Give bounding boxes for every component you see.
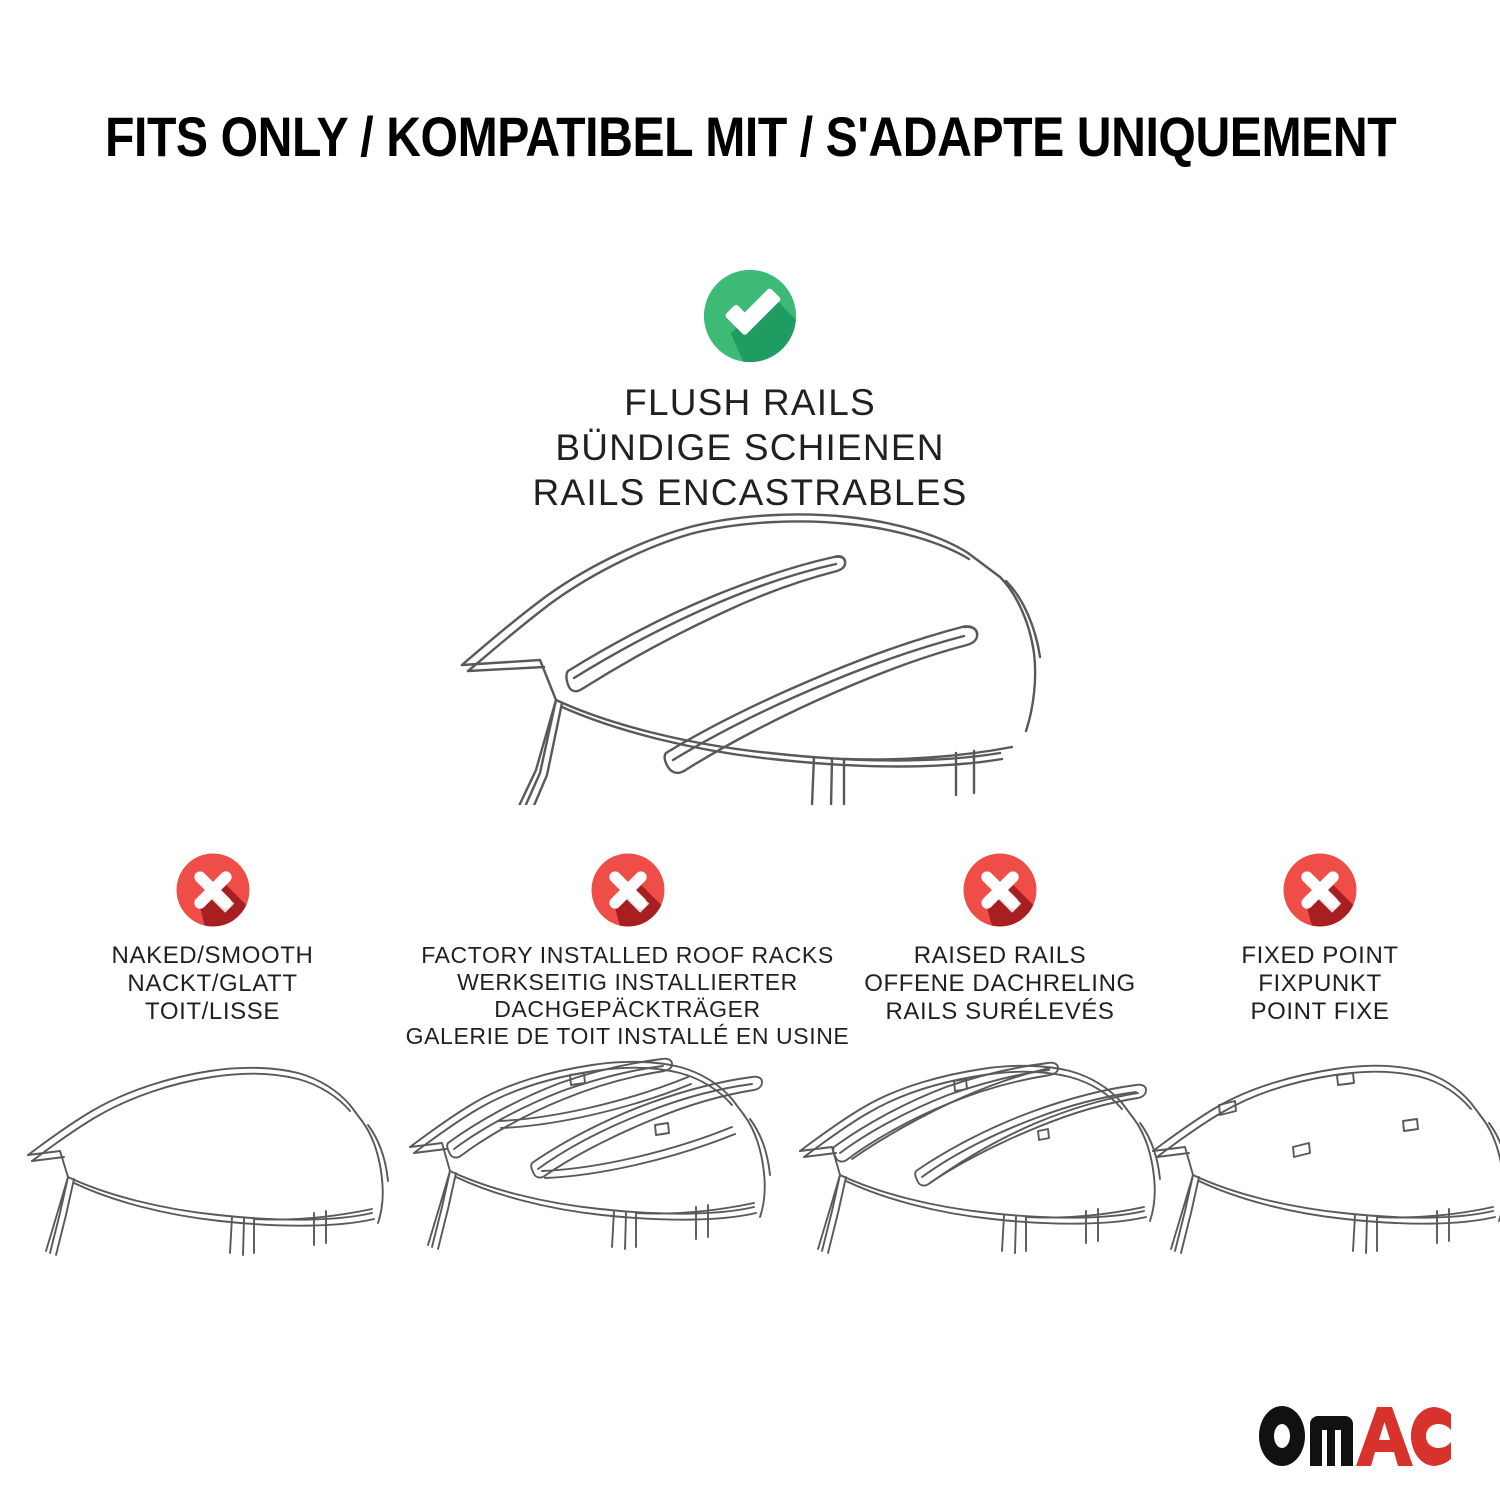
incompatible-label-fr: TOIT/LISSE: [40, 998, 385, 1026]
incompatible-label-fr: RAILS SURÉLEVÉS: [845, 998, 1155, 1026]
incompatible-item-raised-rails: RAISED RAILS OFFENE DACHRELING RAILS SUR…: [845, 852, 1155, 1026]
incompatible-item-factory-installed-roof-racks: FACTORY INSTALLED ROOF RACKS WERKSEITIG …: [400, 852, 855, 1050]
car-roof-with-flush-rails-illustration: [440, 495, 1060, 805]
car-roof-naked-smooth-illustration: [20, 1055, 420, 1305]
red-x-icon: [962, 852, 1038, 928]
incompatible-label-de: NACKT/GLATT: [40, 970, 385, 998]
incompatible-label: RAISED RAILS OFFENE DACHRELING RAILS SUR…: [845, 942, 1155, 1026]
compatible-section: FLUSH RAILS BÜNDIGE SCHIENEN RAILS ENCAS…: [0, 268, 1500, 515]
compatible-label-de: BÜNDIGE SCHIENEN: [0, 425, 1500, 470]
logo-letter-o: [1259, 1406, 1305, 1466]
incompatible-label: FACTORY INSTALLED ROOF RACKS WERKSEITIG …: [400, 942, 855, 1050]
omac-logo-mark: [1253, 1402, 1453, 1470]
fitment-infographic: FITS ONLY / KOMPATIBEL MIT / S'ADAPTE UN…: [0, 0, 1500, 1500]
roof-illustration-row: [0, 1055, 1500, 1315]
incompatible-label-de-2: DACHGEPÄCKTRÄGER: [400, 996, 855, 1023]
red-x-icon: [1282, 852, 1358, 928]
incompatible-label-en: FACTORY INSTALLED ROOF RACKS: [400, 942, 855, 969]
incompatible-label-en: FIXED POINT: [1175, 942, 1465, 970]
logo-letter-m: [1310, 1416, 1353, 1466]
incompatible-label: NAKED/SMOOTH NACKT/GLATT TOIT/LISSE: [40, 942, 385, 1026]
page-title: FITS ONLY / KOMPATIBEL MIT / S'ADAPTE UN…: [105, 104, 1395, 169]
incompatible-label-en: RAISED RAILS: [845, 942, 1155, 970]
incompatible-label-de-1: WERKSEITIG INSTALLIERTER: [400, 969, 855, 996]
incompatible-item-naked-smooth: NAKED/SMOOTH NACKT/GLATT TOIT/LISSE: [40, 852, 385, 1026]
incompatible-label-de: OFFENE DACHRELING: [845, 970, 1155, 998]
compatible-label-en: FLUSH RAILS: [0, 380, 1500, 425]
logo-letter-a: [1356, 1407, 1413, 1466]
incompatible-label-de: FIXPUNKT: [1175, 970, 1465, 998]
logo-letter-c: [1411, 1407, 1451, 1466]
green-check-icon: [702, 268, 798, 364]
incompatible-label-fr: GALERIE DE TOIT INSTALLÉ EN USINE: [400, 1023, 855, 1050]
incompatible-label-en: NAKED/SMOOTH: [40, 942, 385, 970]
red-x-icon: [590, 852, 666, 928]
incompatible-label: FIXED POINT FIXPUNKT POINT FIXE: [1175, 942, 1465, 1026]
car-roof-fixed-point-illustration: [1145, 1055, 1500, 1305]
omac-logo: OMAC: [1253, 1402, 1453, 1470]
red-x-icon: [175, 852, 251, 928]
car-roof-raised-rails-illustration: [790, 1055, 1200, 1305]
incompatible-item-fixed-point: FIXED POINT FIXPUNKT POINT FIXE: [1175, 852, 1465, 1026]
incompatible-label-fr: POINT FIXE: [1175, 998, 1465, 1026]
car-roof-factory-roof-racks-illustration: [400, 1055, 810, 1305]
